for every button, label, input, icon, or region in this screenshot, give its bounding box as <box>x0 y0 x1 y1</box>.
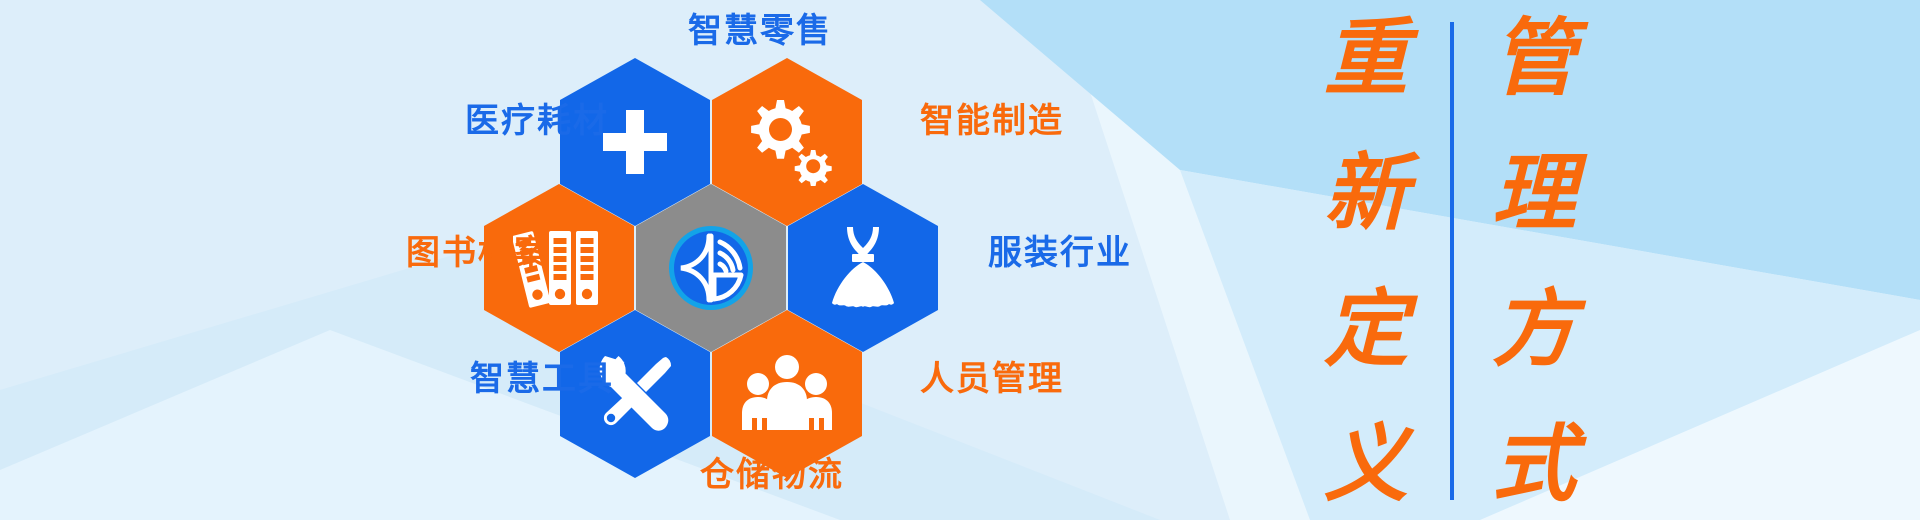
calligraphy-char-right-3: 式 <box>1492 424 1576 504</box>
people-group-icon <box>741 354 833 434</box>
label-books: 图书档案 <box>406 236 550 270</box>
banner-root: 智慧零售 医疗耗材 智能制造 图书档案 服装行业 智慧工具 人员管理 仓储物流 … <box>0 0 1920 520</box>
calligraphy-block: 重 新 定 义 管 理 方 式 <box>1290 0 1690 520</box>
dress-icon <box>821 223 905 313</box>
calligraphy-char-right-1: 理 <box>1492 153 1576 233</box>
gears-icon <box>741 98 833 186</box>
label-logistics: 仓储物流 <box>700 458 844 492</box>
calligraphy-column-left: 重 新 定 义 <box>1312 18 1420 504</box>
calligraphy-column-right: 管 理 方 式 <box>1480 18 1588 504</box>
hexagon-cluster <box>560 58 980 458</box>
calligraphy-char-right-2: 方 <box>1492 289 1576 369</box>
calligraphy-char-left-3: 义 <box>1324 424 1408 504</box>
label-manufacturing: 智能制造 <box>920 104 1064 138</box>
label-apparel: 服装行业 <box>988 236 1132 270</box>
calligraphy-char-left-0: 重 <box>1324 18 1408 98</box>
calligraphy-char-right-0: 管 <box>1492 18 1576 98</box>
vertical-divider <box>1450 22 1454 500</box>
label-tools: 智慧工具 <box>470 362 614 396</box>
calligraphy-char-left-2: 定 <box>1324 289 1408 369</box>
rfid-logo-icon <box>665 222 757 314</box>
label-people: 人员管理 <box>920 362 1064 396</box>
label-retail: 智慧零售 <box>688 14 832 48</box>
label-medical: 医疗耗材 <box>465 104 609 138</box>
calligraphy-char-left-1: 新 <box>1324 153 1408 233</box>
